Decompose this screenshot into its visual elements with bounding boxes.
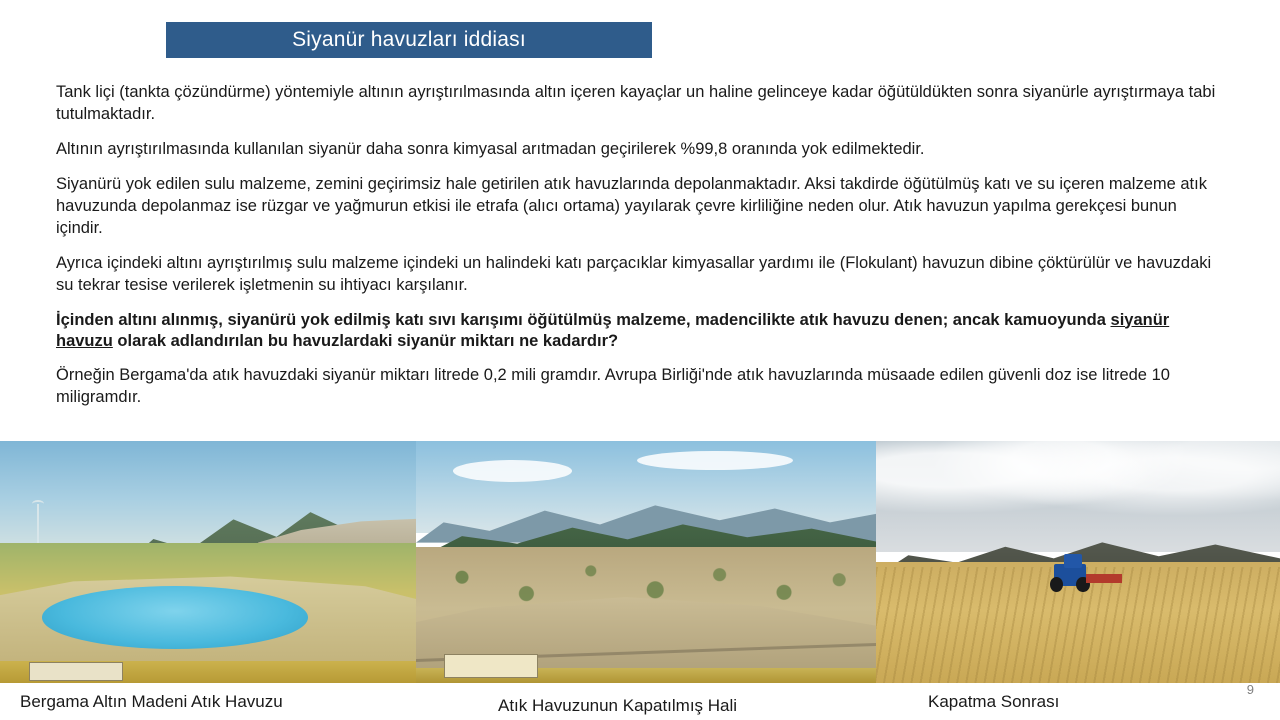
photo1-tower (37, 504, 39, 543)
slide: Siyanür havuzları iddiası Tank liçi (tan… (0, 0, 1280, 720)
photo1-sign (29, 662, 123, 681)
photo-bergama-tailings-pond (0, 441, 416, 683)
body-text: Tank liçi (tankta çözündürme) yöntemiyle… (56, 82, 1228, 422)
photo2-cloud-right (637, 451, 793, 470)
caption-photo-2: Atık Havuzunun Kapatılmış Hali (498, 696, 737, 716)
photo3-implement (1086, 574, 1122, 582)
photo1-pond-water (42, 586, 308, 649)
paragraph-6: Örneğin Bergama'da atık havuzdaki siyanü… (56, 365, 1228, 409)
photo-closed-tailings-pond (416, 441, 876, 683)
slide-title-bar: Siyanür havuzları iddiası (166, 22, 652, 58)
paragraph-3: Siyanürü yok edilen sulu malzeme, zemini… (56, 174, 1228, 240)
paragraph-4: Ayrıca içindeki altını ayrıştırılmış sul… (56, 253, 1228, 297)
page-number: 9 (1247, 682, 1254, 697)
paragraph-2: Altının ayrıştırılmasında kullanılan siy… (56, 139, 1228, 161)
page-title: Siyanür havuzları iddiası (292, 28, 526, 52)
paragraph-5-part1: İçinden altını alınmış, siyanürü yok edi… (56, 311, 1111, 329)
paragraph-5-part2: olarak adlandırılan bu havuzlardaki siya… (113, 332, 618, 350)
paragraph-1: Tank liçi (tankta çözündürme) yöntemiyle… (56, 82, 1228, 126)
paragraph-5-question: İçinden altını alınmış, siyanürü yok edi… (56, 310, 1228, 354)
photo-after-closure-field (876, 441, 1280, 683)
photo3-tractor-cab (1064, 554, 1082, 569)
image-strip (0, 441, 1280, 683)
photo3-clouds (876, 441, 1280, 538)
caption-photo-1: Bergama Altın Madeni Atık Havuzu (20, 692, 283, 712)
caption-photo-3: Kapatma Sonrası (928, 692, 1059, 712)
photo2-sign (444, 654, 538, 678)
